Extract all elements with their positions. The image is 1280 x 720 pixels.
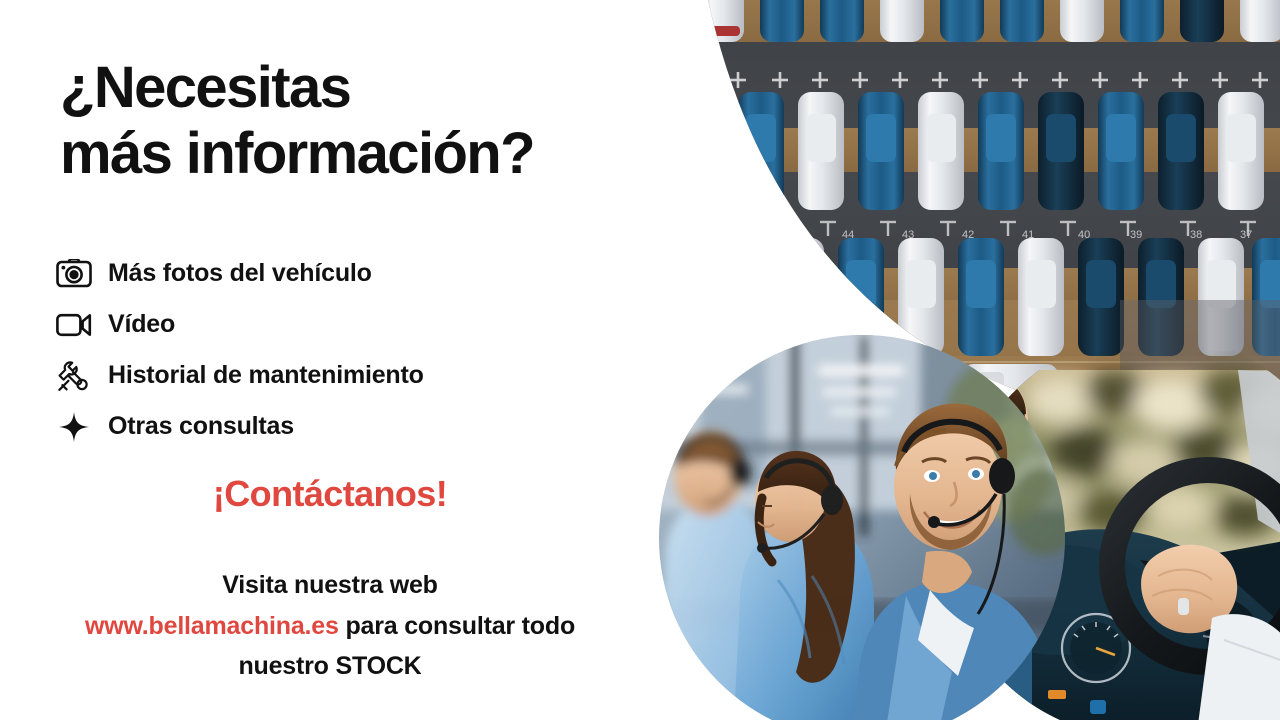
website-line1: Visita nuestra web <box>222 571 437 599</box>
website-line2-tail: para consultar todo <box>339 612 575 640</box>
call-center-team-photo <box>655 330 1080 720</box>
website-block: Visita nuestra web www.bellamachina.es p… <box>0 565 660 687</box>
aerial-car-lot-photo: 4544 4342 4140 3938 37 <box>660 0 1280 466</box>
video-icon <box>54 307 94 343</box>
text-content: ¿Necesitas más información? Más fotos de… <box>0 0 700 720</box>
svg-text:40: 40 <box>1078 229 1090 241</box>
website-url[interactable]: www.bellamachina.es <box>85 612 339 640</box>
list-item-label: Historial de mantenimiento <box>108 361 424 390</box>
poster-canvas: 4544 4342 4140 3938 37 <box>0 0 1280 720</box>
feature-list: Más fotos del vehículo Vídeo <box>54 248 674 452</box>
svg-text:44: 44 <box>842 229 854 241</box>
list-item-label: Otras consultas <box>108 412 294 441</box>
svg-text:39: 39 <box>1130 229 1142 241</box>
svg-text:42: 42 <box>962 229 974 241</box>
svg-text:37: 37 <box>1240 229 1252 241</box>
list-item: Más fotos del vehículo <box>54 248 674 299</box>
sparkle-icon <box>54 409 94 445</box>
page-title: ¿Necesitas más información? <box>60 55 700 186</box>
wrench-hand-icon <box>54 358 94 394</box>
svg-text:43: 43 <box>902 229 914 241</box>
list-item-label: Más fotos del vehículo <box>108 259 372 288</box>
camera-icon <box>54 256 94 292</box>
list-item: Historial de mantenimiento <box>54 350 674 401</box>
svg-text:38: 38 <box>1190 229 1202 241</box>
svg-text:45: 45 <box>782 229 794 241</box>
website-line3: nuestro STOCK <box>238 652 421 680</box>
list-item: Otras consultas <box>54 401 674 452</box>
svg-text:41: 41 <box>1022 229 1034 241</box>
driver-steering-wheel-photo <box>962 368 1280 720</box>
list-item: Vídeo <box>54 299 674 350</box>
list-item-label: Vídeo <box>108 310 175 339</box>
contact-cta: ¡Contáctanos! <box>0 473 660 515</box>
